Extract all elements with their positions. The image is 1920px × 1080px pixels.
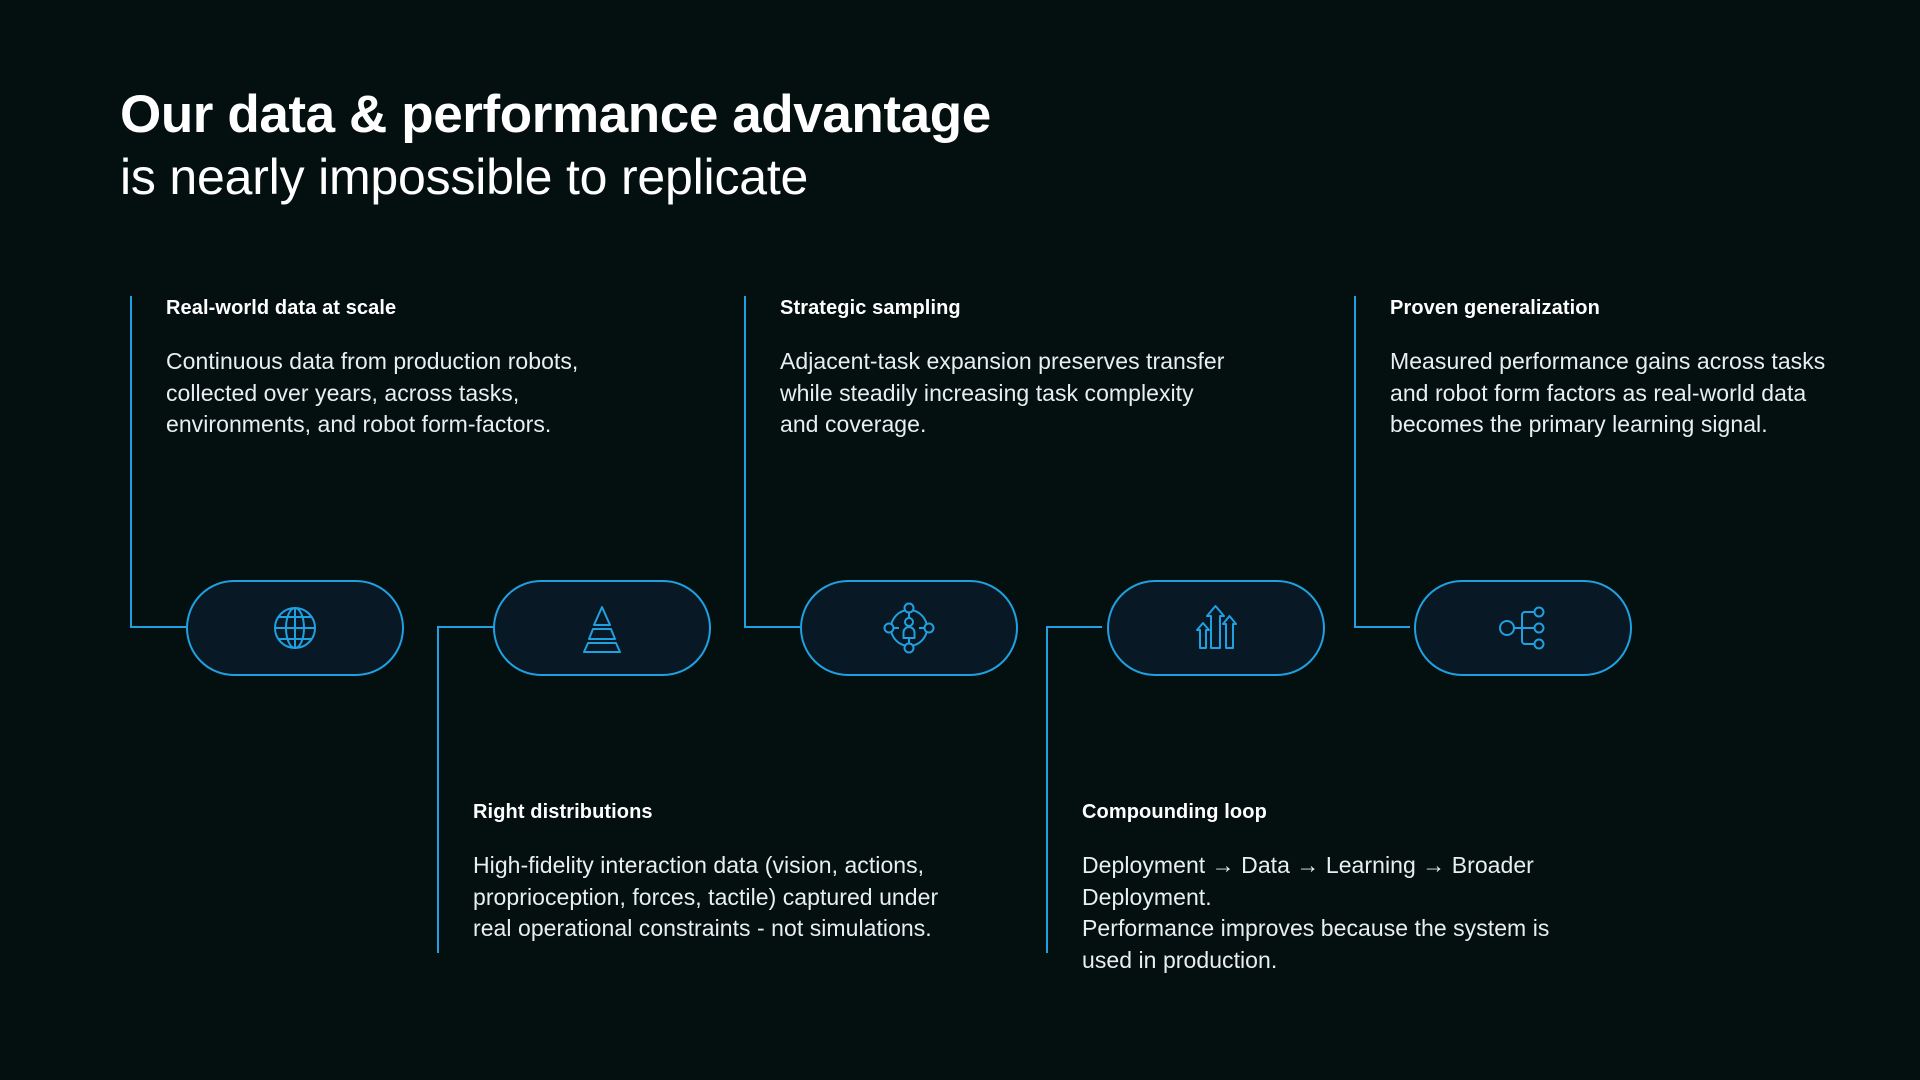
card-strategic-sampling[interactable]: Strategic sampling Adjacent-task expansi…: [744, 296, 1234, 441]
card-body: High-fidelity interaction data (vision, …: [473, 850, 967, 945]
card-title: Strategic sampling: [780, 296, 1234, 320]
card-title: Real-world data at scale: [166, 296, 610, 320]
connector-segment-horizontal: [437, 626, 493, 628]
card-proven-generalization[interactable]: Proven generalization Measured performan…: [1354, 296, 1854, 441]
connector-segment-horizontal: [744, 626, 800, 628]
card-body: Adjacent-task expansion preserves transf…: [780, 346, 1234, 441]
growth-arrows-icon: [1187, 599, 1245, 657]
globe-icon: [267, 600, 323, 656]
pill-target-person[interactable]: [800, 580, 1018, 676]
card-body: Continuous data from production robots, …: [166, 346, 610, 441]
card-title: Compounding loop: [1082, 800, 1566, 824]
card-accent-rail: [1354, 296, 1356, 476]
connector-segment-horizontal: [1354, 626, 1410, 628]
slide-canvas: Our data & performance advantage is near…: [0, 0, 1920, 1080]
pill-branch-node[interactable]: [1414, 580, 1632, 676]
page-title: Our data & performance advantage is near…: [120, 85, 1520, 207]
card-right-distributions[interactable]: Right distributions High-fidelity intera…: [437, 800, 967, 945]
pill-growth-arrows[interactable]: [1107, 580, 1325, 676]
card-accent-rail: [744, 296, 746, 476]
branch-node-icon: [1494, 599, 1552, 657]
pyramid-icon: [574, 600, 630, 656]
target-person-icon: [880, 599, 938, 657]
card-title: Right distributions: [473, 800, 967, 824]
card-compounding-loop[interactable]: Compounding loop Deployment → Data → Lea…: [1046, 800, 1566, 977]
card-body: Deployment → Data → Learning → Broader D…: [1082, 850, 1566, 977]
card-accent-rail: [130, 296, 132, 476]
title-line-1: Our data & performance advantage: [120, 85, 1520, 146]
connector-segment-horizontal: [1046, 626, 1102, 628]
card-real-world-data-at-scale[interactable]: Real-world data at scale Continuous data…: [130, 296, 610, 441]
card-body: Measured performance gains across tasks …: [1390, 346, 1854, 441]
pill-globe[interactable]: [186, 580, 404, 676]
title-line-2: is nearly impossible to replicate: [120, 148, 1520, 207]
connector-segment-horizontal: [130, 626, 186, 628]
pill-pyramid[interactable]: [493, 580, 711, 676]
card-title: Proven generalization: [1390, 296, 1854, 320]
